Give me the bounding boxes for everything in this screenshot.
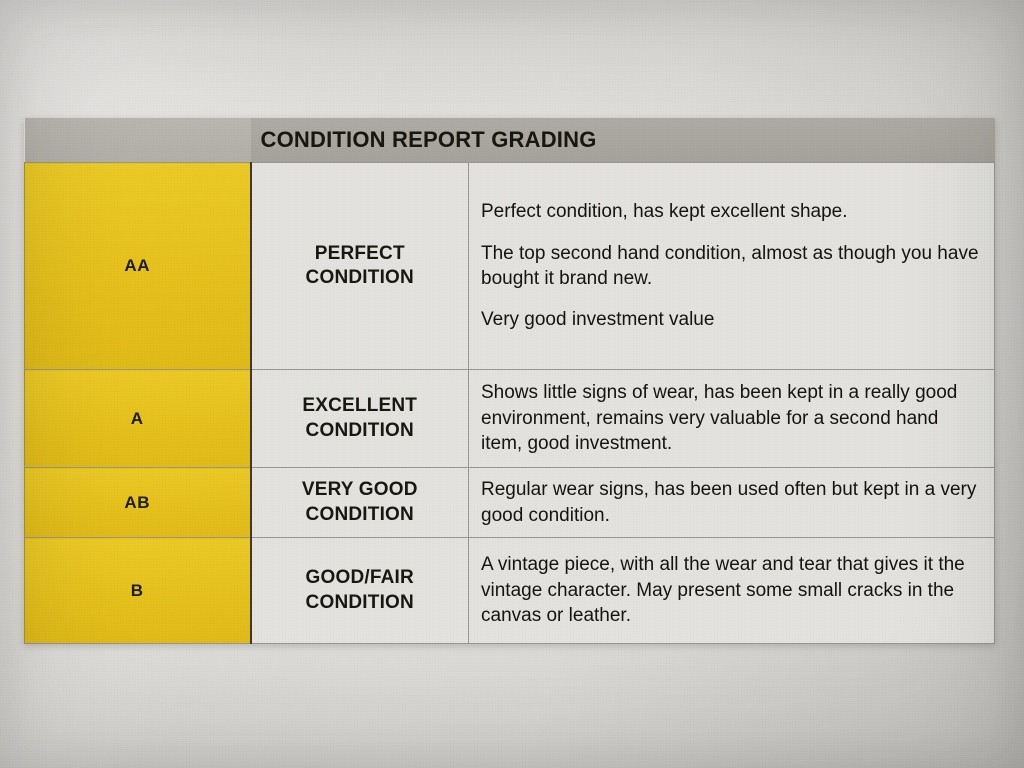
table-row: B GOOD/FAIR CONDITION A vintage piece, w… (25, 538, 995, 644)
table-row: A EXCELLENT CONDITION Shows little signs… (25, 370, 995, 468)
condition-label-cell-a: EXCELLENT CONDITION (251, 370, 469, 468)
grade-label: B (131, 581, 144, 600)
page-title: CONDITION REPORT GRADING (251, 127, 995, 153)
table-row: AB VERY GOOD CONDITION Regular wear sign… (25, 468, 995, 538)
condition-label-cell-b: GOOD/FAIR CONDITION (251, 538, 469, 644)
grade-label: AA (124, 256, 150, 275)
condition-label-line1: GOOD/FAIR (306, 567, 414, 588)
condition-label-cell-aa: PERFECT CONDITION (251, 163, 469, 370)
condition-label-cell-ab: VERY GOOD CONDITION (251, 468, 469, 538)
description-paragraph: A vintage piece, with all the wear and t… (481, 552, 982, 628)
description-cell-a: Shows little signs of wear, has been kep… (469, 370, 995, 468)
grade-cell-a: A (25, 370, 251, 468)
condition-label-line1: EXCELLENT (302, 395, 417, 416)
description-paragraph: Shows little signs of wear, has been kep… (481, 380, 982, 456)
condition-label-line1: PERFECT (315, 243, 405, 264)
condition-label-line2: CONDITION (306, 267, 414, 288)
title-row-left-spacer (25, 118, 251, 163)
grade-cell-ab: AB (25, 468, 251, 538)
description-cell-aa: Perfect condition, has kept excellent sh… (469, 163, 995, 370)
description-cell-b: A vintage piece, with all the wear and t… (469, 538, 995, 644)
grade-cell-b: B (25, 538, 251, 644)
condition-label-line1: VERY GOOD (302, 479, 418, 500)
description-paragraph: Regular wear signs, has been used often … (481, 477, 982, 528)
description-paragraph: Perfect condition, has kept excellent sh… (481, 199, 982, 224)
table-row: AA PERFECT CONDITION Perfect condition, … (25, 163, 995, 370)
condition-label-line2: CONDITION (306, 420, 414, 441)
grade-cell-aa: AA (25, 163, 251, 370)
grade-label: A (131, 409, 144, 428)
condition-grading-table: CONDITION REPORT GRADING AA PERFECT COND… (24, 118, 995, 644)
photographed-page: CONDITION REPORT GRADING AA PERFECT COND… (0, 0, 1024, 768)
table-title-row: CONDITION REPORT GRADING (25, 118, 995, 163)
description-paragraph: The top second hand condition, almost as… (481, 241, 982, 292)
grade-label: AB (124, 493, 150, 512)
description-cell-ab: Regular wear signs, has been used often … (469, 468, 995, 538)
table-title-cell: CONDITION REPORT GRADING (251, 118, 995, 163)
description-paragraph: Very good investment value (481, 307, 982, 332)
condition-label-line2: CONDITION (306, 592, 414, 613)
condition-label-line2: CONDITION (306, 504, 414, 525)
